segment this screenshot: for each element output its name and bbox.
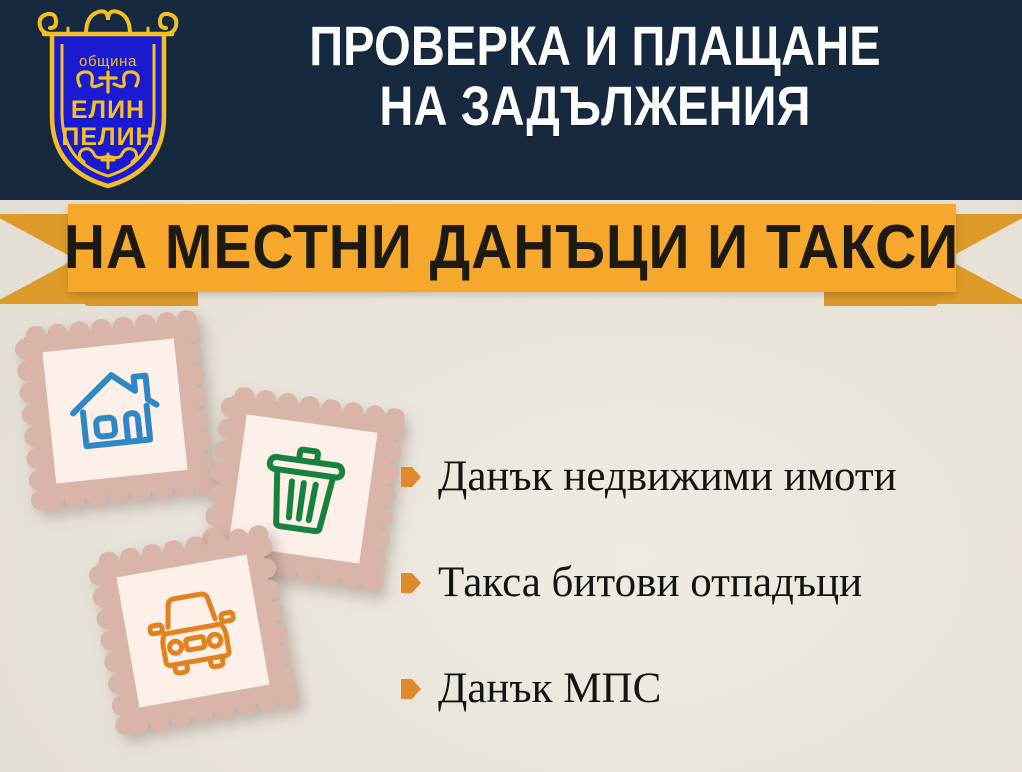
ribbon-banner: НА МЕСТНИ ДАНЪЦИ И ТАКСИ	[0, 198, 1022, 310]
list-item-label: Такса битови отпадъци	[438, 560, 862, 605]
svg-text:ЕЛИН: ЕЛИН	[71, 96, 145, 124]
page-title-line-1: ПРОВЕРКА И ПЛАЩАНЕ	[309, 14, 881, 77]
list-item-label: Данък МПС	[438, 666, 661, 711]
page-title: ПРОВЕРКА И ПЛАЩАНЕ НА ЗАДЪЛЖЕНИЯ	[246, 16, 943, 137]
arrow-bullet-icon	[400, 676, 422, 702]
list-item[interactable]: Данък МПС	[400, 636, 1010, 742]
stamp-card-property-tax	[13, 309, 217, 513]
list-item[interactable]: Такса битови отпадъци	[400, 530, 1010, 636]
tax-type-list: Данък недвижими имоти Такса битови отпад…	[400, 424, 1010, 742]
car-front-icon	[135, 573, 251, 689]
coat-of-arms-icon: община ЕЛИН ПЕЛИН	[28, 4, 188, 190]
poster-canvas: ПРОВЕРКА И ПЛАЩАНЕ НА ЗАДЪЛЖЕНИЯ община	[0, 0, 1022, 772]
svg-text:ПЕЛИН: ПЕЛИН	[61, 123, 154, 151]
ribbon-label: НА МЕСТНИ ДАНЪЦИ И ТАКСИ	[64, 217, 959, 279]
svg-text:община: община	[79, 53, 137, 70]
list-item[interactable]: Данък недвижими имоти	[400, 424, 1010, 530]
page-title-line-2: НА ЗАДЪЛЖЕНИЯ	[246, 76, 943, 136]
arrow-bullet-icon	[400, 570, 422, 596]
arrow-bullet-icon	[400, 464, 422, 490]
list-item-label: Данък недвижими имоти	[438, 454, 897, 499]
house-icon	[60, 356, 170, 466]
ribbon-main-panel: НА МЕСТНИ ДАНЪЦИ И ТАКСИ	[68, 204, 956, 292]
stamp-card-vehicle-tax	[85, 523, 300, 738]
